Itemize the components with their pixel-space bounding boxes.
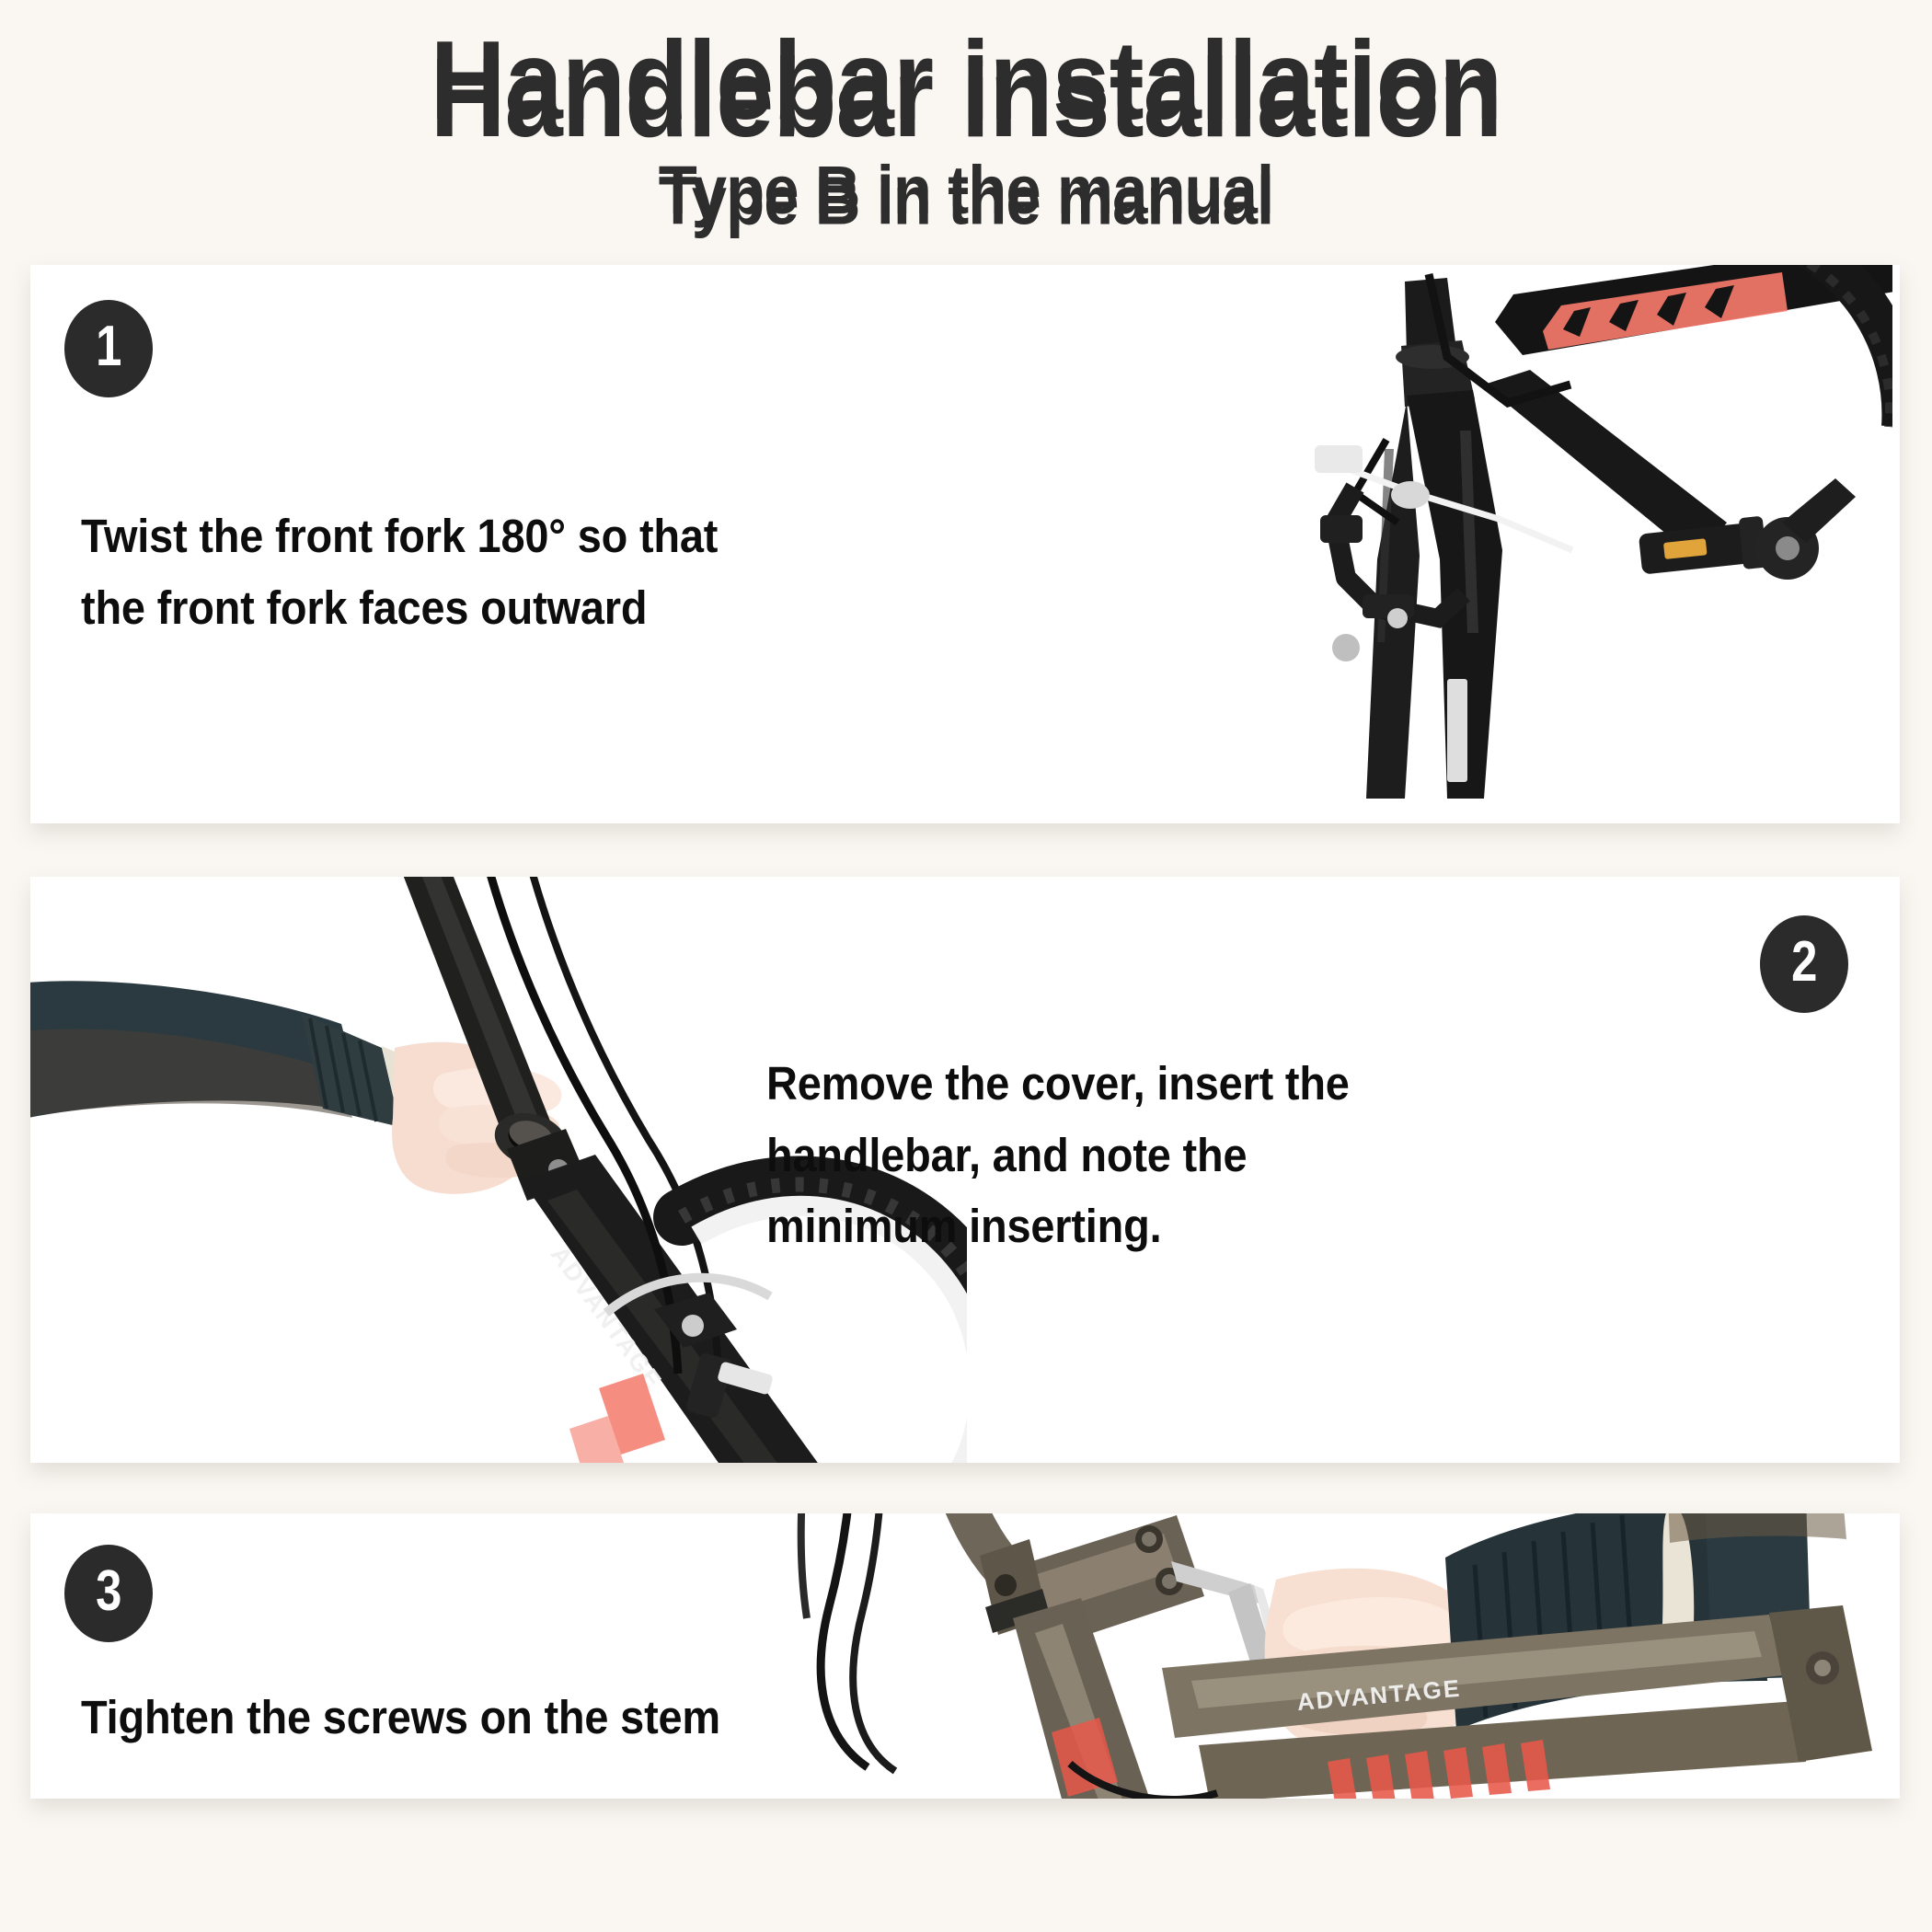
step-number-3: 3	[96, 1563, 121, 1620]
header: Handlebar installation Type B in the man…	[0, 0, 1932, 224]
front-fork-rotated-photo	[1267, 265, 1892, 823]
step-panel-1: 1 Twist the front fork 180° so that the …	[30, 265, 1900, 823]
step-number-2: 2	[1791, 934, 1817, 991]
step-badge-1: 1	[64, 300, 153, 397]
step-caption-3: Tighten the screws on the stem	[81, 1682, 843, 1754]
step-caption-2: Remove the cover, insert the handlebar, …	[766, 1048, 1443, 1262]
step-number-1: 1	[96, 318, 121, 375]
page-subtitle: Type B in the manual	[68, 156, 1865, 224]
tighten-stem-screws-photo: ADVANTAGE	[739, 1513, 1900, 1799]
step-panel-3: ADVANTAGE 3 Tighten the screws on the st…	[30, 1513, 1900, 1799]
step-badge-3: 3	[64, 1545, 153, 1642]
page-title: Handlebar installation	[68, 24, 1865, 136]
step-panel-2: ADVANTAGE 2 Remove the cover, insert t	[30, 877, 1900, 1463]
step-badge-2: 2	[1760, 915, 1848, 1013]
step-caption-1: Twist the front fork 180° so that the fr…	[81, 500, 927, 643]
